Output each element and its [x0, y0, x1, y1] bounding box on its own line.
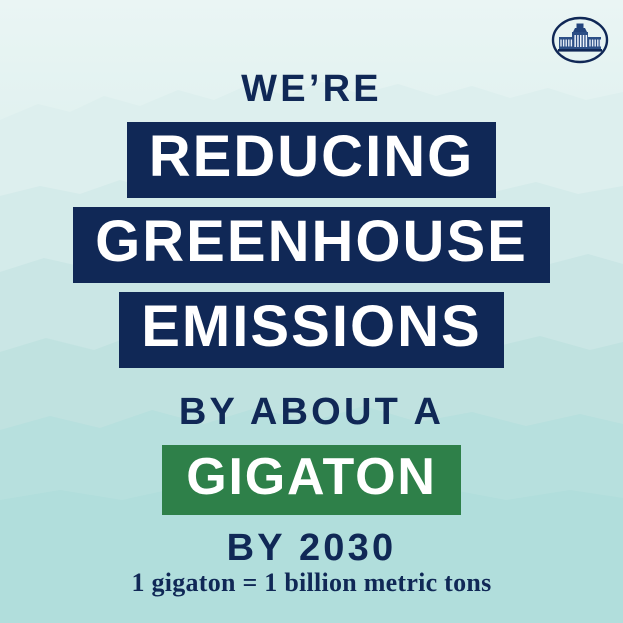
headline-line-were: WE’RE [241, 70, 382, 108]
footnote-text: 1 gigaton = 1 billion metric tons [0, 568, 623, 598]
headline-line-by-about-a: BY ABOUT A [179, 393, 444, 431]
headline-line-gigaton: GIGATON [162, 445, 461, 515]
headline-line-reducing: REDUCING [127, 122, 497, 198]
white-house-seal-icon [551, 11, 609, 69]
headline-stack: WE’RE REDUCING GREENHOUSE EMISSIONS BY A… [0, 70, 623, 567]
headline-line-by-2030: BY 2030 [227, 529, 397, 567]
poster-graphic: WE’RE REDUCING GREENHOUSE EMISSIONS BY A… [0, 0, 623, 623]
headline-line-emissions: EMISSIONS [119, 292, 504, 368]
headline-line-greenhouse: GREENHOUSE [73, 207, 550, 283]
